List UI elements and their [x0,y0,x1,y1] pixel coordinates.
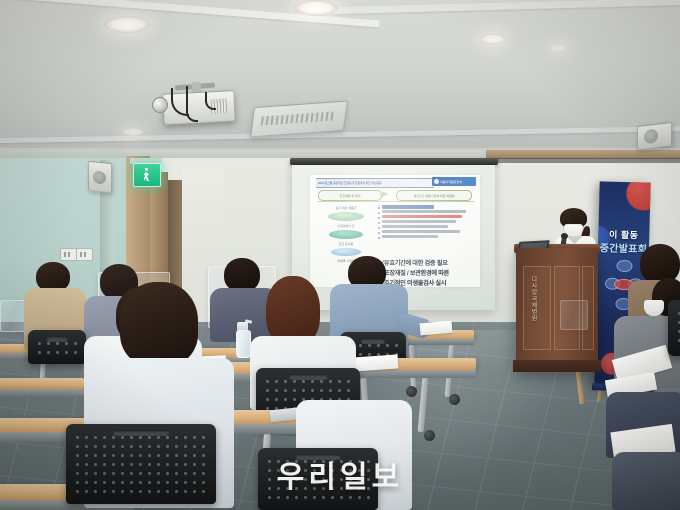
face-mask-icon [644,300,664,316]
wood-trim-shadow [486,158,680,163]
podium-base [513,360,601,372]
slide-bullet [378,205,474,209]
ceiling-downlight [122,128,144,136]
slide-tab: 추진배경 및 목적 [318,190,382,201]
chair-perforation [675,309,680,348]
petri-dish-icon [329,230,363,239]
exit-sign [133,163,161,187]
logo-mark-icon [434,179,439,184]
acrylic-divider [560,300,588,330]
desk-caster [449,394,460,405]
running-person-icon [143,168,151,182]
power-outlet-icon [60,248,77,261]
wall-speaker-icon [88,161,112,194]
slide-logo: 식품의약품안전처 [432,177,476,186]
slide-kicker: ✓유효기간에 대한 검증 필요 [380,259,476,268]
slide-bullet [378,210,474,214]
projector-cable [186,86,198,122]
slide-bullet [378,235,474,239]
chair [28,330,86,364]
chair-perforation [265,457,371,502]
chair-perforation [73,433,209,496]
chair-perforation [35,339,79,356]
desk-edge [352,370,476,378]
desk-edge [0,389,84,397]
chair [66,424,216,504]
banner-circle-decor [626,181,651,211]
chair [668,300,680,356]
slide-bullet-column [378,205,474,240]
desk [0,378,84,389]
screen-roller [290,158,498,165]
slide-title-text: 2022 원스톱 공정개선 컨설팅 추진결과를 위한 개선활동 [316,179,434,187]
slide-bullet [378,230,474,234]
presentation-slide: 2022 원스톱 공정개선 컨설팅 추진결과를 위한 개선활동 식품의약품안전처… [310,175,480,287]
desk-caster [424,430,435,441]
slide-bullet [378,215,474,219]
ceiling-downlight [480,34,506,44]
slide-caption: 진균 증식용 [318,241,374,247]
ceiling-downlight [294,0,338,16]
slide-bullet [378,225,474,229]
projector-cable [205,92,216,110]
slide-bullet [378,220,474,224]
slide-kicker: 포장재질 / 보관환경에 따른 [384,269,480,278]
slide-caption: 소독제에서 균 [318,223,374,229]
slide-tabs: 추진배경 및 목적 개선지구 유효기간에 대한 적정성 [318,190,474,199]
hand-sanitizer-icon [236,330,251,358]
petri-dish-icon [331,248,361,256]
desk-caster [406,386,417,397]
person-hair [120,282,198,366]
slide-divider [318,201,474,202]
chevron-right-icon [382,191,388,197]
desk-edge [402,339,474,345]
person-torso [612,452,680,510]
ceiling-downlight [104,16,150,33]
wall-speaker-icon [637,122,672,150]
ceiling-downlight [548,44,568,52]
chair [258,448,378,510]
podium-sign-text: 다사랑국제병원 [527,276,537,322]
seminar-room-photo: 2022 원스톱 공정개선 컨설팅 추진결과를 위한 개선활동 식품의약품안전처… [0,0,680,510]
slide-title-bar: 2022 원스톱 공정개선 컨설팅 추진결과를 위한 개선활동 [316,178,434,188]
slide-caption: 검사 대상 제품군 [318,205,374,211]
power-outlet-icon [76,248,93,261]
slide-logo-text: 식품의약품안전처 [440,180,462,184]
slide-tab: 개선지구 유효기간에 대한 적정성 [396,190,472,201]
diagram-node [616,260,632,272]
person-hair [224,258,260,292]
petri-dish-icon [328,212,364,221]
